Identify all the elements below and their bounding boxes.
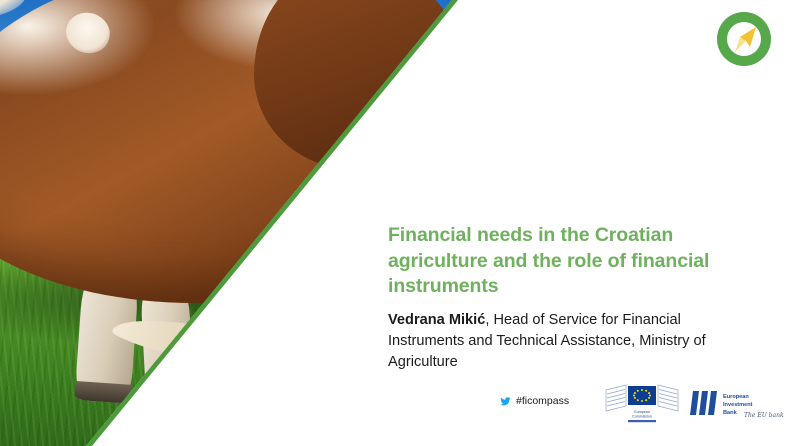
- eib-label-line3: Bank: [723, 410, 738, 416]
- cow-white-patch: [61, 7, 115, 58]
- twitter-handle-text: #ficompass: [516, 395, 569, 407]
- european-investment-bank-logo: European Investment Bank The EU bank: [688, 385, 784, 425]
- cow-leg: [315, 258, 383, 394]
- twitter-handle[interactable]: #ficompass: [500, 395, 569, 407]
- ec-label-line2: Commission: [632, 415, 652, 419]
- mountain-peak: [539, 54, 777, 188]
- eib-label-line1: European: [723, 394, 749, 400]
- slide-footer: #ficompass European Commissio: [388, 382, 780, 430]
- eib-tagline: The EU bank: [744, 412, 784, 419]
- mountain-shadow: [365, 71, 539, 178]
- presentation-slide: Financial needs in the Croatian agricult…: [0, 0, 793, 446]
- eib-label-line2: Investment: [723, 402, 753, 408]
- slide-subtitle: Vedrana Mikić, Head of Service for Finan…: [388, 310, 758, 372]
- cow-hoof: [315, 373, 379, 394]
- twitter-bird-icon: [500, 396, 511, 407]
- fi-compass-logo-icon: [713, 8, 775, 70]
- ec-label-line1: European: [634, 410, 650, 414]
- cow-hoof: [75, 381, 132, 404]
- cow-hoof: [145, 383, 193, 403]
- page-title: Financial needs in the Croatian agricult…: [388, 223, 758, 300]
- speaker-name: Vedrana Mikić: [388, 312, 485, 328]
- european-commission-logo: European Commission: [604, 382, 680, 428]
- slide-text-block: Financial needs in the Croatian agricult…: [388, 223, 758, 372]
